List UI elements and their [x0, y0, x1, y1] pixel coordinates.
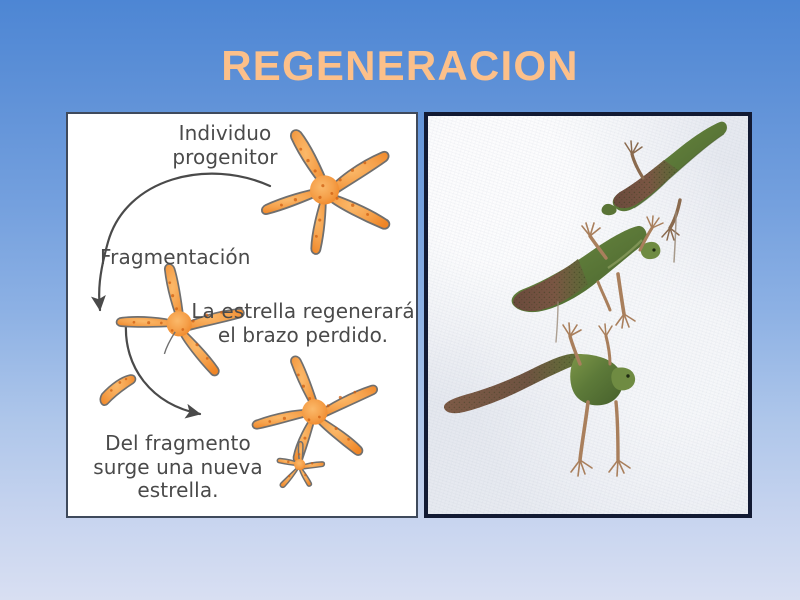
starfish-new-small	[271, 437, 328, 496]
lizard-bottom-left	[444, 323, 635, 476]
starfish-diagram-panel: Individuo progenitor Fragmentación La es…	[66, 112, 418, 518]
lizard-photo-panel	[424, 112, 752, 518]
label-individuo-progenitor: Individuo progenitor	[140, 122, 310, 169]
label-la-estrella-regenerara: La estrella regenerará el brazo perdido.	[188, 300, 418, 347]
page-title: REGENERACION	[0, 44, 800, 88]
arrow-parent-to-fragment	[99, 174, 270, 310]
slide-canvas: REGENERACION	[0, 0, 800, 600]
label-fragmentacion: Fragmentación	[100, 246, 300, 270]
lizard-photo-subjects	[428, 116, 748, 514]
lizard-middle	[512, 216, 663, 342]
starfish-arm-fragment	[99, 368, 137, 411]
label-del-fragmento-nueva-estrella: Del fragmento surge una nueva estrella.	[78, 432, 278, 503]
